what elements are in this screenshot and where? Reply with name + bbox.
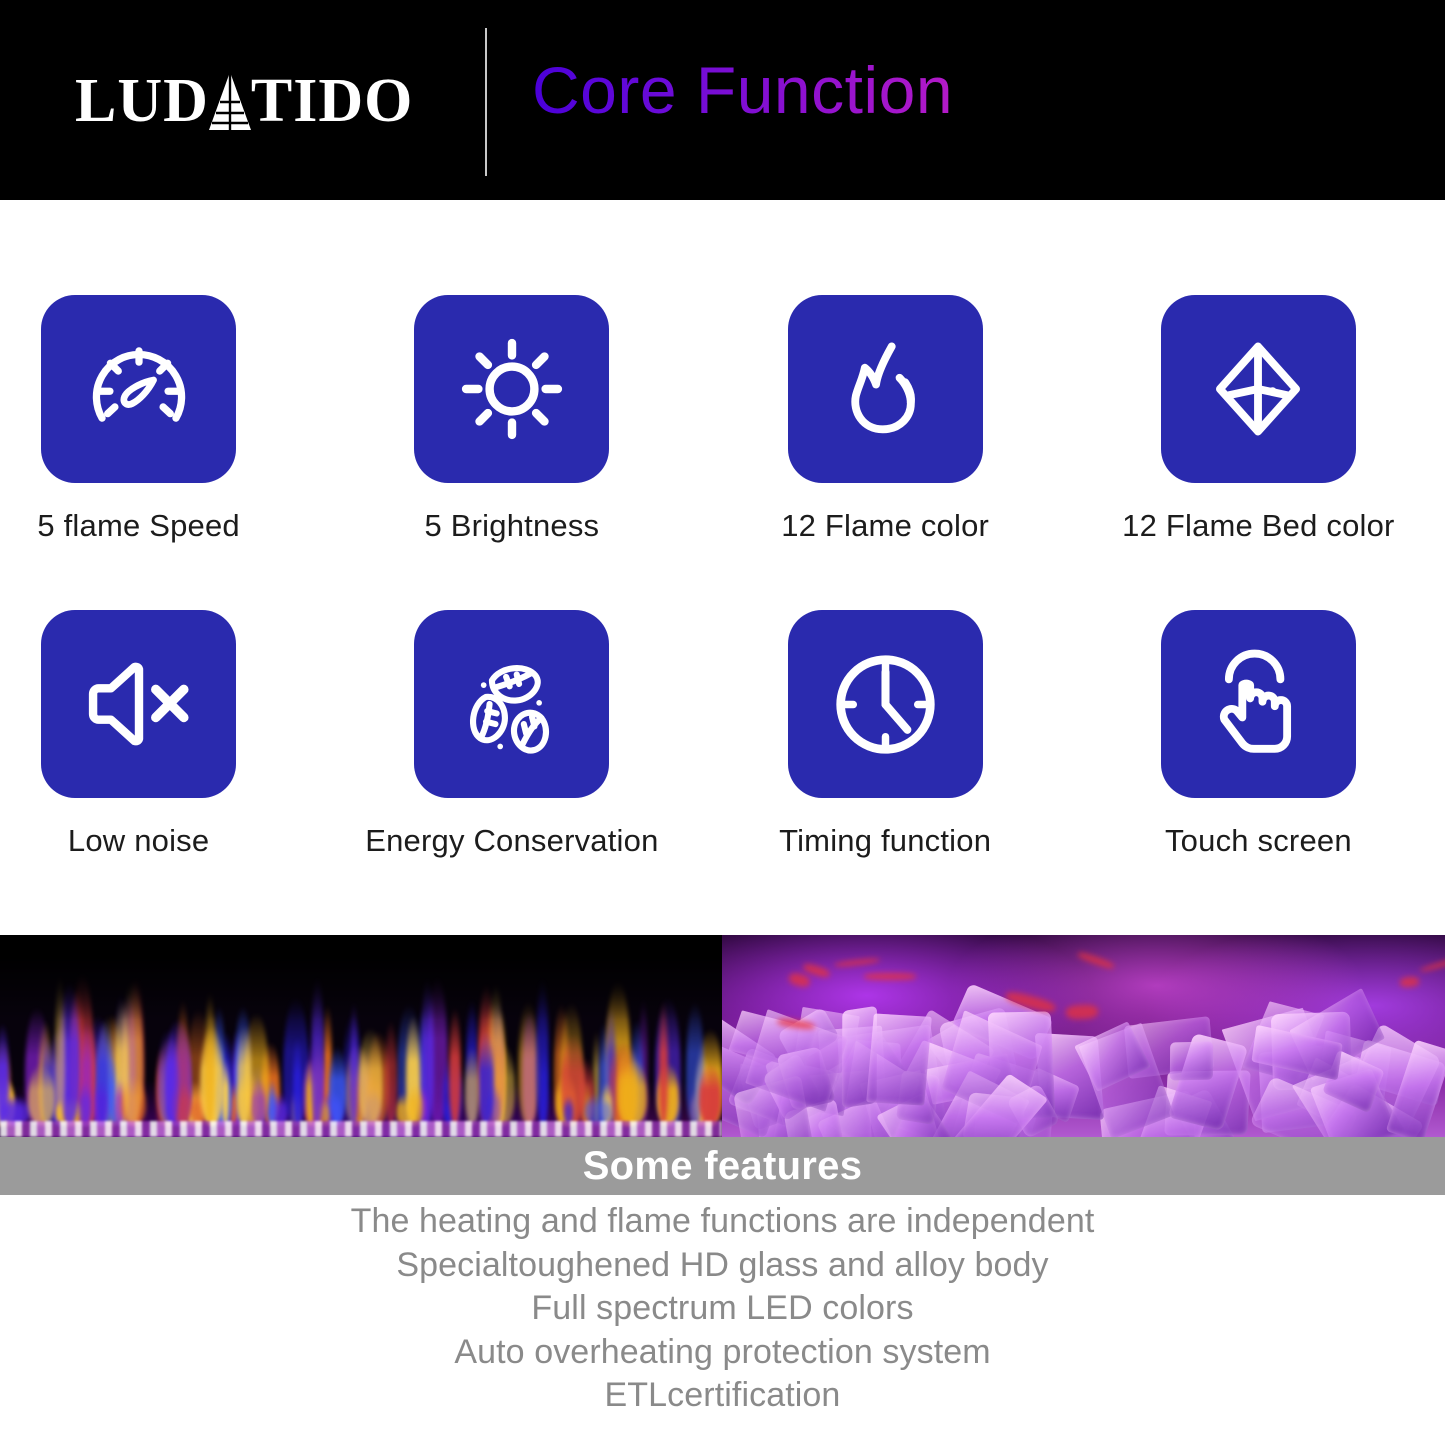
crystals-photo (722, 935, 1445, 1137)
tile-energy-conservation[interactable] (414, 610, 609, 798)
feature-label: Touch screen (1165, 823, 1352, 859)
pyramid-logo-icon (207, 70, 253, 132)
feature-label: Low noise (68, 823, 209, 859)
feature-label: Energy Conservation (365, 823, 658, 859)
feature-list-item: Specialtoughened HD glass and alloy body (396, 1244, 1048, 1288)
feature-list-item: Full spectrum LED colors (531, 1287, 913, 1331)
feature-cell-brightness[interactable]: 5 Brightness (325, 295, 698, 595)
feature-cell-flame-speed[interactable]: 5 flame Speed (0, 295, 325, 595)
feature-cell-low-noise[interactable]: Low noise (0, 610, 325, 910)
tile-low-noise[interactable] (41, 610, 236, 798)
feature-list: The heating and flame functions are inde… (0, 1200, 1445, 1418)
feature-label: 12 Flame Bed color (1122, 508, 1394, 544)
band-title: Some features (583, 1144, 863, 1189)
brand-logo-text-right: TIDO (251, 70, 413, 132)
clock-icon (828, 647, 943, 762)
feature-cell-energy-conservation[interactable]: Energy Conservation (325, 610, 698, 910)
page-title: Core Function (532, 56, 953, 125)
feature-grid: 5 flame Speed (0, 200, 1445, 935)
flame-icon (829, 333, 941, 445)
photo-strip (0, 935, 1445, 1137)
flames-photo (0, 935, 722, 1137)
page-header: LUD TIDO Core Function (0, 0, 1445, 200)
tile-flame-bed-color[interactable] (1161, 295, 1356, 483)
feature-list-item: Auto overheating protection system (454, 1331, 990, 1375)
tile-touch-screen[interactable] (1161, 610, 1356, 798)
feature-list-item: ETLcertification (605, 1374, 841, 1418)
infographic-page: LUD TIDO Core Function (0, 0, 1445, 1445)
feature-grid-row-1: 5 flame Speed (0, 295, 1445, 595)
brand-logo: LUD TIDO (75, 60, 413, 142)
tile-brightness[interactable] (414, 295, 609, 483)
flames-photo-crystal-bed (0, 1121, 722, 1137)
feature-label: 5 Brightness (425, 508, 600, 544)
tile-flame-speed[interactable] (41, 295, 236, 483)
feature-label: 12 Flame color (781, 508, 989, 544)
leaves-recycle-icon (453, 645, 571, 763)
feature-cell-flame-bed-color[interactable]: 12 Flame Bed color (1072, 295, 1445, 595)
speaker-mute-icon (83, 648, 195, 760)
brand-logo-text: LUD TIDO (75, 70, 413, 132)
header-divider (485, 28, 487, 176)
feature-list-item: The heating and flame functions are inde… (351, 1200, 1095, 1244)
feature-cell-flame-color[interactable]: 12 Flame color (699, 295, 1072, 595)
sun-brightness-icon (456, 333, 568, 445)
hand-tap-icon (1202, 648, 1314, 760)
brand-logo-text-left: LUD (75, 70, 209, 132)
feature-label: 5 flame Speed (37, 508, 240, 544)
tile-flame-color[interactable] (788, 295, 983, 483)
flames-photo-top-fade (0, 935, 722, 1020)
tile-timing-function[interactable] (788, 610, 983, 798)
feature-cell-touch-screen[interactable]: Touch screen (1072, 610, 1445, 910)
feature-label: Timing function (779, 823, 991, 859)
diamond-gem-icon (1202, 333, 1314, 445)
feature-cell-timing-function[interactable]: Timing function (699, 610, 1072, 910)
feature-grid-row-2: Low noise (0, 610, 1445, 910)
speedometer-icon (83, 333, 195, 445)
some-features-band: Some features (0, 1137, 1445, 1195)
